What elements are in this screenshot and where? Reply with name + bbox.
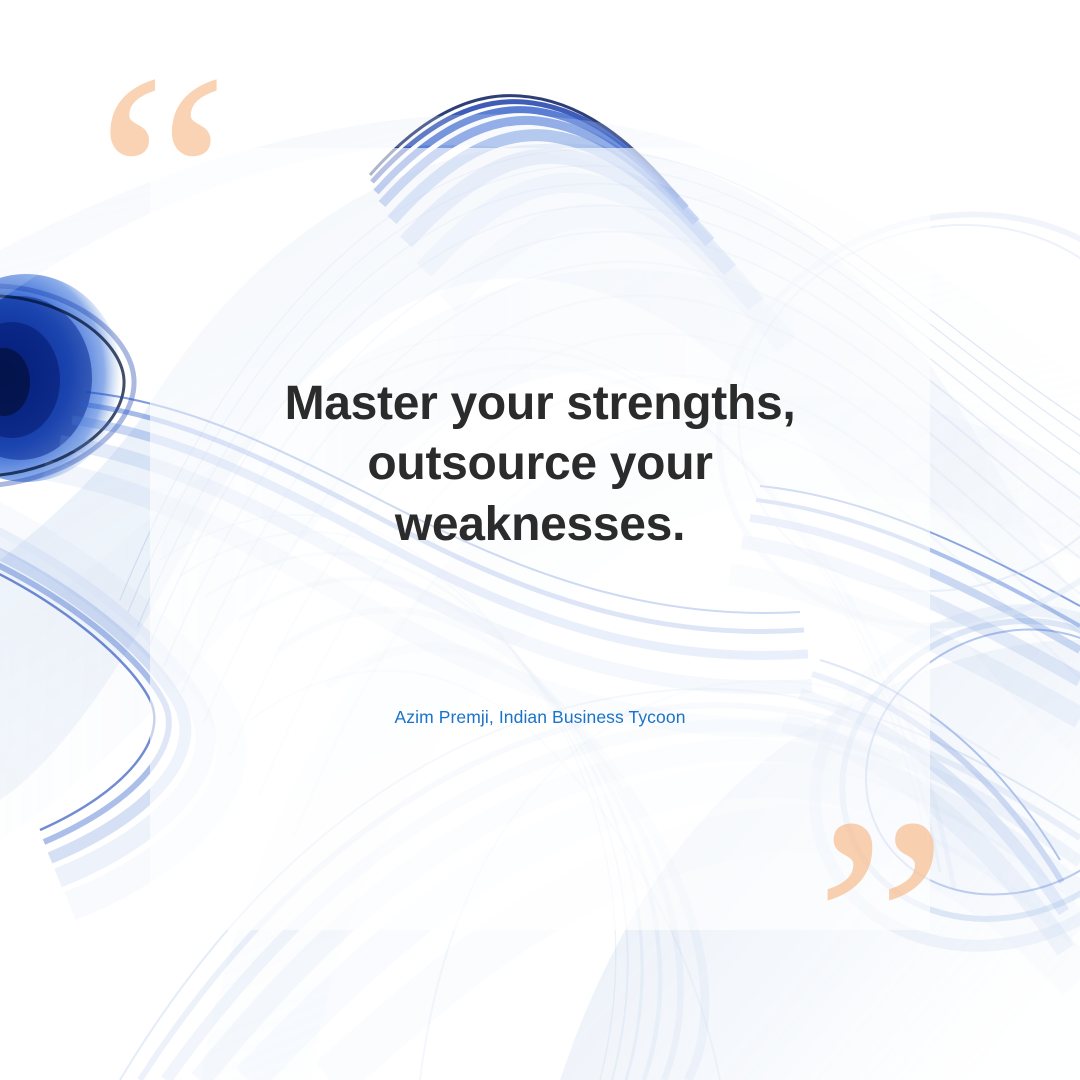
quote-text: Master your strengths, outsource your we… [230,374,850,555]
quote-card: “ ” Master your strengths, outsource you… [0,0,1080,1080]
quote-content: Master your strengths, outsource your we… [150,148,930,930]
quote-attribution: Azim Premji, Indian Business Tycoon [394,707,685,728]
